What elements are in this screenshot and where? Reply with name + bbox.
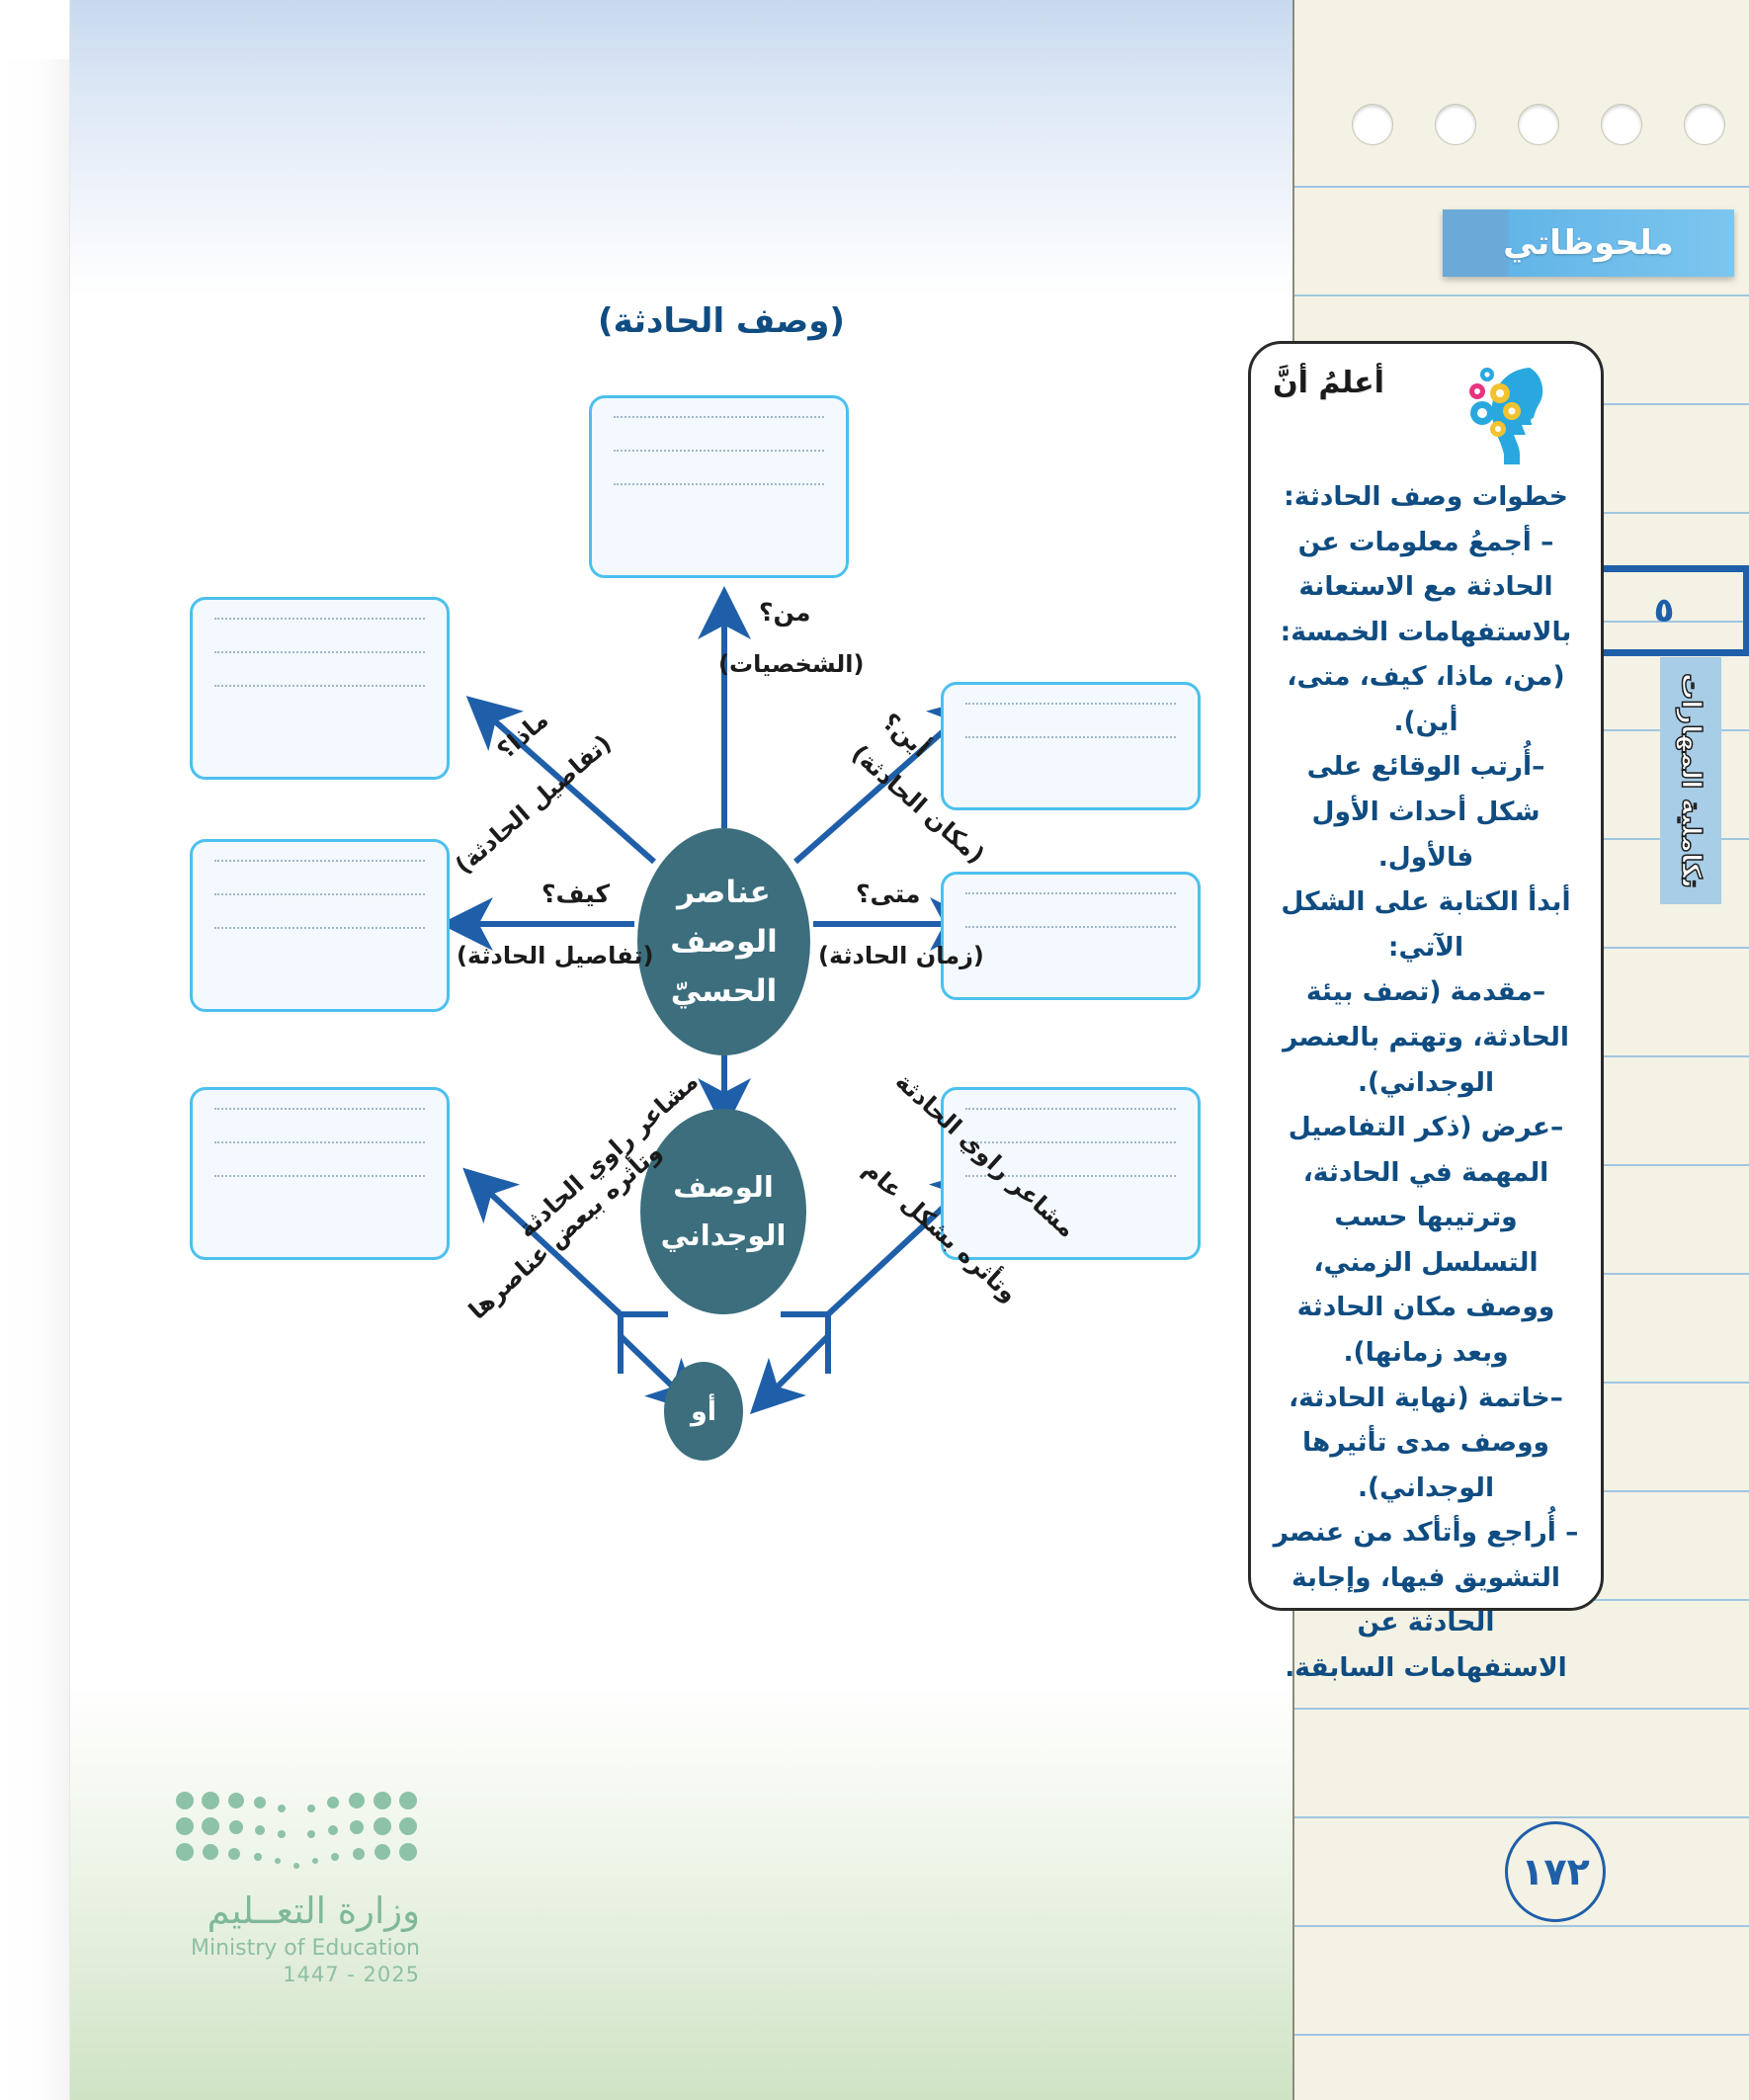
node-sensory-description: عناصر الوصف الحسيّ: [637, 828, 810, 1055]
writing-line: [965, 736, 1176, 738]
card-paragraph: – أجمعُ معلومات عن الحادثة مع الاستعانة …: [1273, 520, 1579, 745]
emotive-branch-left-line-2: وتأثره ببعض عناصرها: [463, 1137, 667, 1324]
card-header: أعلمُ أنَّ: [1273, 360, 1579, 470]
unit-number: ٥: [1654, 591, 1675, 630]
node-emotive-description: الوصف الوجداني: [640, 1109, 806, 1314]
writing-line: [214, 927, 425, 929]
answer-box-who[interactable]: [589, 395, 849, 578]
branch-label-where-question: أين؟: [876, 708, 934, 763]
side-tab-label: تكاملية المهارات: [1676, 673, 1707, 888]
writing-line: [214, 860, 425, 862]
card-paragraph: أبدأ الكتابة على الشكل الآتي:: [1273, 880, 1579, 969]
card-paragraph: – أُراجع وأتأكد من عنصر التشويق فيها، وإ…: [1273, 1510, 1579, 1690]
punch-hole: [1352, 104, 1393, 145]
ministry-name-ar: وزارة التعــليم: [94, 1890, 420, 1932]
answer-box-what[interactable]: [190, 597, 450, 780]
ministry-logo-mark: [173, 1787, 420, 1876]
card-title: أعلمُ أنَّ: [1273, 366, 1384, 400]
writing-line: [965, 926, 1176, 928]
page-number-badge: ١٧٢: [1505, 1821, 1606, 1922]
card-paragraph: –عرض (ذكر التفاصيل المهمة في الحادثة، وت…: [1273, 1105, 1579, 1375]
branch-label-when-question: متى؟: [856, 880, 920, 908]
branch-label-who-question: من؟: [759, 598, 810, 627]
writing-line: [214, 1108, 425, 1110]
page-number: ١٧٢: [1521, 1850, 1590, 1893]
card-body: خطوات وصف الحادثة: – أجمعُ معلومات عن ال…: [1273, 474, 1579, 1691]
writing-line: [614, 483, 824, 485]
node-emotive-line-1: الوصف: [673, 1163, 774, 1212]
notes-tab-label: ملحوظاتي: [1503, 223, 1674, 263]
punch-hole: [1601, 104, 1642, 145]
writing-line: [965, 892, 1176, 894]
writing-line: [214, 618, 425, 620]
writing-line: [214, 893, 425, 895]
ministry-name-en: Ministry of Education: [94, 1936, 420, 1961]
card-paragraph: خطوات وصف الحادثة:: [1273, 474, 1579, 520]
writing-line: [614, 450, 824, 452]
answer-box-how[interactable]: [190, 839, 450, 1012]
card-paragraph: –خاتمة (نهاية الحادثة، ووصف مدى تأثيرها …: [1273, 1376, 1579, 1511]
writing-line: [965, 1141, 1176, 1143]
i-know-that-card: أعلمُ أنَّ خطوات وصف الحادثة: – أجمعُ مع…: [1248, 341, 1604, 1611]
side-tab-skills-integration: تكاملية المهارات: [1660, 657, 1721, 904]
node-sensory-line-2: الوصف: [670, 917, 778, 966]
node-sensory-line-3: الحسيّ: [671, 966, 778, 1016]
textbook-page: (وصف الحادثة): [0, 0, 1749, 2100]
writing-line: [214, 1175, 425, 1177]
branch-label-how-detail: (تفاصيل الحادثة): [457, 942, 653, 969]
branch-label-how-question: كيف؟: [541, 880, 610, 908]
node-or: أو: [664, 1362, 743, 1461]
answer-box-emotive-left[interactable]: [190, 1087, 450, 1260]
branch-label-what-detail: (تفاصيل الحادثة): [450, 729, 617, 880]
punch-hole: [1435, 104, 1476, 145]
writing-line: [214, 1141, 425, 1143]
notes-tab[interactable]: ملحوظاتي: [1443, 210, 1734, 277]
writing-line: [214, 651, 425, 653]
card-paragraph: –أُرتب الوقائع على شكل أحداث الأول فالأو…: [1273, 744, 1579, 880]
diagram-title: (وصف الحادثة): [553, 301, 889, 341]
punch-hole: [1684, 104, 1725, 145]
writing-line: [214, 685, 425, 687]
writing-line: [965, 703, 1176, 705]
concept-map: (وصف الحادثة): [0, 0, 1294, 2100]
writing-line: [965, 1108, 1176, 1110]
punch-hole: [1518, 104, 1559, 145]
ministry-logo: وزارة التعــليم Ministry of Education 20…: [94, 1787, 420, 1986]
node-emotive-line-2: الوجداني: [661, 1212, 787, 1260]
head-with-gears-icon: [1460, 360, 1579, 470]
writing-line: [614, 416, 824, 418]
ministry-year: 2025 - 1447: [94, 1963, 420, 1986]
answer-box-emotive-right[interactable]: [941, 1087, 1201, 1260]
node-sensory-line-1: عناصر: [677, 868, 771, 917]
answer-box-where[interactable]: [941, 682, 1201, 810]
unit-number-badge: ٥: [1585, 565, 1749, 656]
branch-label-when-detail: (زمان الحادثة): [818, 942, 984, 969]
answer-box-when[interactable]: [941, 872, 1201, 1000]
branch-label-who-detail: (الشخصيات): [718, 650, 864, 678]
branch-label-what-question: ماذا؟: [492, 706, 553, 764]
card-paragraph: –مقدمة (تصف بيئة الحادثة، وتهتم بالعنصر …: [1273, 969, 1579, 1105]
